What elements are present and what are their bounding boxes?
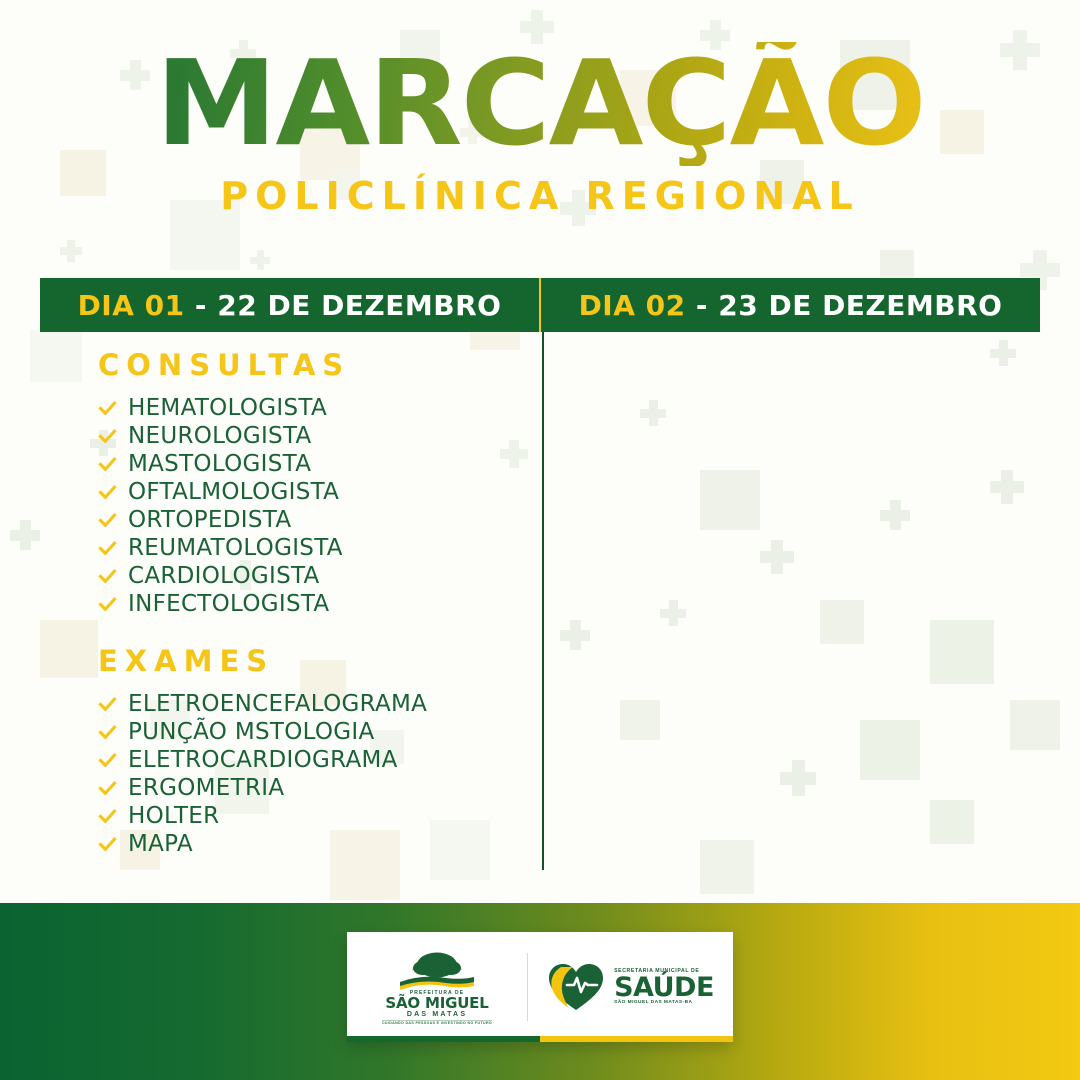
list-item: ORTOPEDISTA [98,506,512,534]
day-header-bar: DIA 01 - 22 DE DEZEMBRO DIA 02 - 23 DE D… [40,278,1040,332]
list-item: MAPA [98,830,512,858]
check-icon [98,807,117,826]
poster-canvas: MARCAÇÃO POLICLÍNICA REGIONAL DIA 01 - 2… [0,0,1080,1080]
day-1-number: DIA 01 [78,289,185,322]
prefeitura-text: PREFEITURA DE SÃO MIGUEL DAS MATAS CUIDA… [382,991,492,1026]
check-icon [98,455,117,474]
list-item: REUMATOLOGISTA [98,534,512,562]
check-icon [98,539,117,558]
check-icon [98,751,117,770]
list-item: ELETROENCEFALOGRAMA [98,690,512,718]
services-columns: CONSULTAS HEMATOLOGISTANEUROLOGISTAMASTO… [0,348,1080,858]
saude-logo: SECRETARIA MUNICIPAL DE SAÚDE SÃO MIGUEL… [528,932,733,1042]
exames-list-1: ELETROENCEFALOGRAMAPUNÇÃO MSTOLOGIAELETR… [98,690,512,858]
list-item: ELETROCARDIOGRAMA [98,746,512,774]
consultas-list-1: HEMATOLOGISTANEUROLOGISTAMASTOLOGISTAOFT… [98,394,512,618]
list-item-label: HOLTER [128,802,219,830]
consultas-title-1: CONSULTAS [98,348,512,382]
prefeitura-tagline: CUIDANDO DAS PESSOAS E INVESTINDO NO FUT… [382,1020,492,1026]
day-2-number: DIA 02 [579,289,686,322]
list-item: CARDIOLOGISTA [98,562,512,590]
list-item-label: CARDIOLOGISTA [128,562,320,590]
page-subtitle: POLICLÍNICA REGIONAL [0,174,1080,218]
consultas-title-2: CONSULTAS [512,348,1080,382]
title-block: MARCAÇÃO POLICLÍNICA REGIONAL [0,0,1080,218]
check-icon [98,595,117,614]
saude-name: SAÚDE [614,974,714,1001]
list-item-label: MAPA [128,830,193,858]
list-item-label: ORTOPEDISTA [128,506,291,534]
check-icon [98,511,117,530]
list-item-label: PUNÇÃO MSTOLOGIA [128,718,375,746]
list-item-label: ELETROCARDIOGRAMA [128,746,398,774]
list-item-label: INFECTOLOGISTA [128,590,329,618]
logo-card: PREFEITURA DE SÃO MIGUEL DAS MATAS CUIDA… [347,932,733,1042]
day-1-separator: - [185,289,218,322]
check-icon [98,779,117,798]
list-item-label: HEMATOLOGISTA [128,394,327,422]
day-2-separator: - [686,289,719,322]
list-item: INFECTOLOGISTA [98,590,512,618]
list-item: MASTOLOGISTA [98,450,512,478]
tree-logo-icon [400,948,474,990]
list-item: PUNÇÃO MSTOLOGIA [98,718,512,746]
list-item-label: OFTALMOLOGISTA [128,478,339,506]
check-icon [98,695,117,714]
prefeitura-logo: PREFEITURA DE SÃO MIGUEL DAS MATAS CUIDA… [347,932,527,1042]
list-item-label: ELETROENCEFALOGRAMA [128,690,427,718]
check-icon [98,723,117,742]
prefeitura-name: SÃO MIGUEL [382,996,492,1011]
accent-green [347,1036,540,1042]
day-1-date: 22 DE DEZEMBRO [217,289,501,322]
column-day-2: CONSULTAS GASTROENTEROLOGISTAGINICOLOGIS… [512,348,1080,858]
day-header-1: DIA 01 - 22 DE DEZEMBRO [40,289,539,322]
list-item-label: ERGOMETRIA [128,774,284,802]
accent-yellow [540,1036,733,1042]
list-item: OFTALMOLOGISTA [98,478,512,506]
list-item: NEUROLOGISTA [98,422,512,450]
list-item: ERGOMETRIA [98,774,512,802]
check-icon [98,483,117,502]
list-item-label: NEUROLOGISTA [128,422,312,450]
logo-card-accent-bar [347,1036,733,1042]
heart-pulse-icon [547,961,605,1013]
check-icon [98,835,117,854]
list-item: HEMATOLOGISTA [98,394,512,422]
exames-title-2: EXAMES [512,644,1080,678]
prefeitura-sub: DAS MATAS [382,1011,492,1018]
saude-text: SECRETARIA MUNICIPAL DE SAÚDE SÃO MIGUEL… [614,969,714,1006]
list-item-label: REUMATOLOGISTA [128,534,343,562]
day-header-2: DIA 02 - 23 DE DEZEMBRO [541,289,1040,322]
list-item: HOLTER [98,802,512,830]
check-icon [98,567,117,586]
exames-title-1: EXAMES [98,644,512,678]
list-item-label: MASTOLOGISTA [128,450,311,478]
check-icon [98,427,117,446]
check-icon [98,399,117,418]
column-day-1: CONSULTAS HEMATOLOGISTANEUROLOGISTAMASTO… [0,348,512,858]
day-2-date: 23 DE DEZEMBRO [718,289,1002,322]
page-title: MARCAÇÃO [0,42,1080,166]
